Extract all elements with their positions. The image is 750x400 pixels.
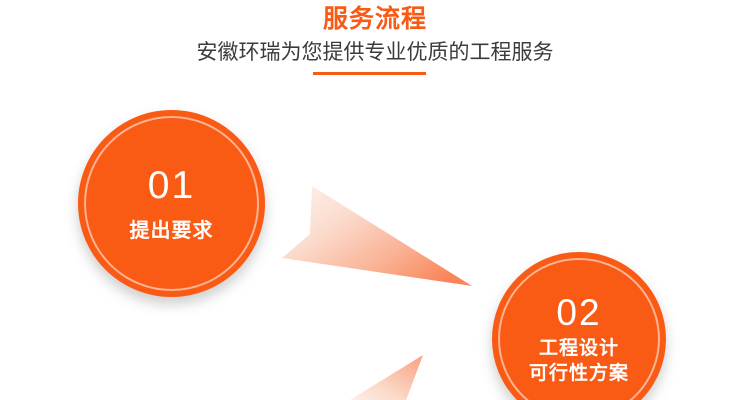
title-divider (313, 72, 426, 75)
step-number-01: 01 (148, 165, 195, 207)
step-number-02: 02 (556, 293, 601, 333)
arrow-step-2-to-3-icon (345, 355, 455, 400)
header: 服务流程 安徽环瑞为您提供专业优质的工程服务 (0, 0, 750, 66)
page-title: 服务流程 (0, 0, 750, 34)
step-label-01: 提出要求 (130, 219, 214, 243)
arrow-step-1-to-2-icon (282, 186, 472, 291)
page-subtitle: 安徽环瑞为您提供专业优质的工程服务 (0, 34, 750, 66)
service-process-banner: 服务流程 安徽环瑞为您提供专业优质的工程服务 01 提出要求 02 工程设计 可… (0, 0, 750, 400)
step-label-02-line-2: 可行性方案 (529, 361, 629, 386)
step-circle-01[interactable]: 01 提出要求 (78, 110, 265, 297)
step-label-02-line-1: 工程设计 (539, 336, 619, 361)
step-circle-02[interactable]: 02 工程设计 可行性方案 (492, 252, 666, 400)
